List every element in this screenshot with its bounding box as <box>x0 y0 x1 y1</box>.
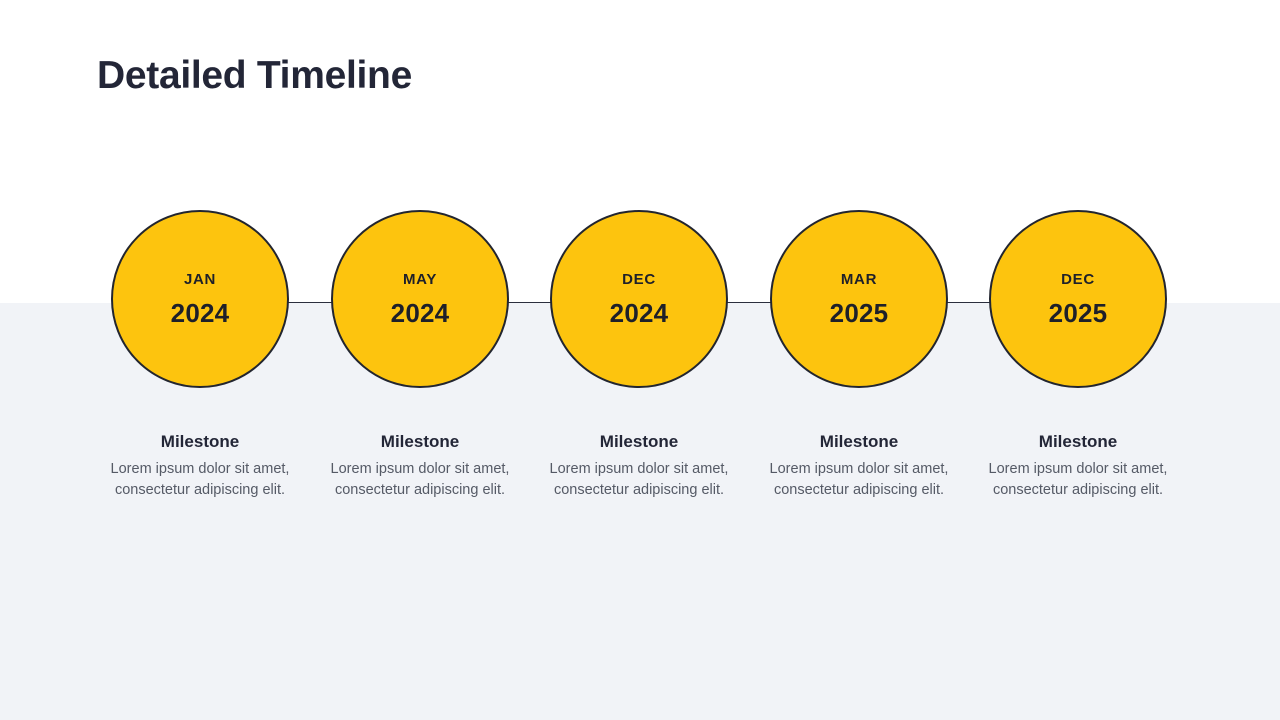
timeline-node-year: 2024 <box>610 300 669 326</box>
timeline-node-month: DEC <box>622 272 656 287</box>
caption-body: Lorem ipsum dolor sit amet, consectetur … <box>324 459 516 501</box>
slide-canvas: Detailed Timeline JAN2024MilestoneLorem … <box>0 0 1280 720</box>
timeline-node-month: DEC <box>1061 272 1095 287</box>
timeline-connector <box>505 302 554 303</box>
timeline-node-4[interactable]: MAR2025 <box>770 210 948 388</box>
timeline-node-year: 2025 <box>830 300 889 326</box>
timeline-node-2[interactable]: MAY2024 <box>331 210 509 388</box>
timeline-caption-5: MilestoneLorem ipsum dolor sit amet, con… <box>982 432 1174 501</box>
timeline-connector <box>944 302 993 303</box>
caption-title: Milestone <box>543 432 735 452</box>
timeline-caption-4: MilestoneLorem ipsum dolor sit amet, con… <box>763 432 955 501</box>
caption-body: Lorem ipsum dolor sit amet, consectetur … <box>104 459 296 501</box>
timeline-caption-2: MilestoneLorem ipsum dolor sit amet, con… <box>324 432 516 501</box>
timeline-connector <box>724 302 774 303</box>
timeline-node-3[interactable]: DEC2024 <box>550 210 728 388</box>
caption-title: Milestone <box>982 432 1174 452</box>
timeline-caption-3: MilestoneLorem ipsum dolor sit amet, con… <box>543 432 735 501</box>
timeline: JAN2024MilestoneLorem ipsum dolor sit am… <box>0 0 1280 720</box>
caption-title: Milestone <box>324 432 516 452</box>
timeline-node-month: MAR <box>841 272 877 287</box>
timeline-node-month: MAY <box>403 272 437 287</box>
caption-title: Milestone <box>104 432 296 452</box>
caption-body: Lorem ipsum dolor sit amet, consectetur … <box>982 459 1174 501</box>
caption-body: Lorem ipsum dolor sit amet, consectetur … <box>543 459 735 501</box>
timeline-node-year: 2024 <box>171 300 230 326</box>
timeline-caption-1: MilestoneLorem ipsum dolor sit amet, con… <box>104 432 296 501</box>
timeline-node-year: 2025 <box>1049 300 1108 326</box>
timeline-node-5[interactable]: DEC2025 <box>989 210 1167 388</box>
timeline-node-1[interactable]: JAN2024 <box>111 210 289 388</box>
timeline-node-month: JAN <box>184 272 216 287</box>
caption-title: Milestone <box>763 432 955 452</box>
timeline-node-year: 2024 <box>391 300 450 326</box>
caption-body: Lorem ipsum dolor sit amet, consectetur … <box>763 459 955 501</box>
timeline-connector <box>285 302 335 303</box>
